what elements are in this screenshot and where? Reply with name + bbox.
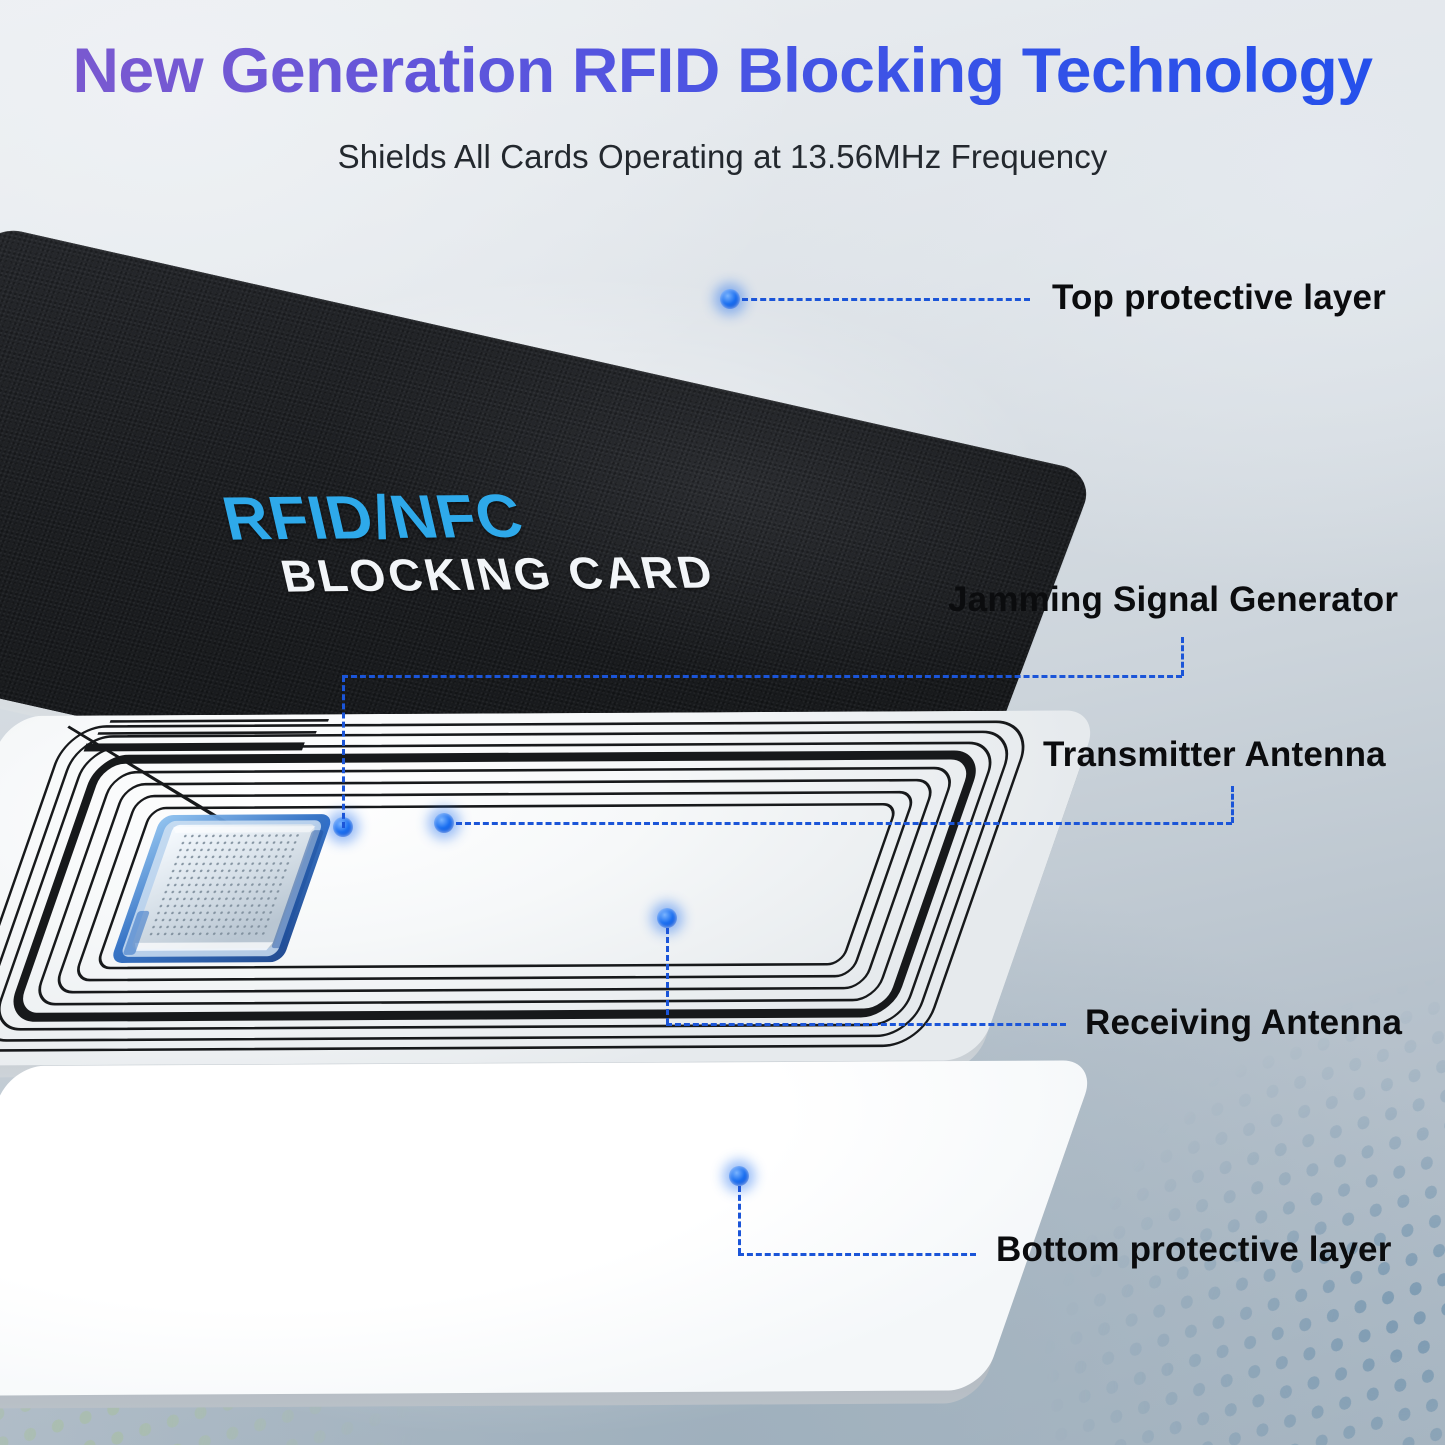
card-text-line-1: RFID/NFC (216, 479, 709, 554)
chip-module (0, 710, 1100, 1066)
card-layer-bottom-protective (0, 1060, 1097, 1396)
card-front-face (0, 1060, 1097, 1396)
card-layer-antenna (0, 710, 1100, 1066)
card-printed-text: RFID/NFC BLOCKING CARD (216, 479, 721, 603)
card-front-face (0, 710, 1100, 1066)
page-title: New Generation RFID Blocking Technology (0, 38, 1445, 105)
infographic-canvas: New Generation RFID Blocking Technology … (0, 0, 1445, 1445)
page-subtitle: Shields All Cards Operating at 13.56MHz … (0, 138, 1445, 176)
card-text-line-2: BLOCKING CARD (276, 545, 721, 602)
